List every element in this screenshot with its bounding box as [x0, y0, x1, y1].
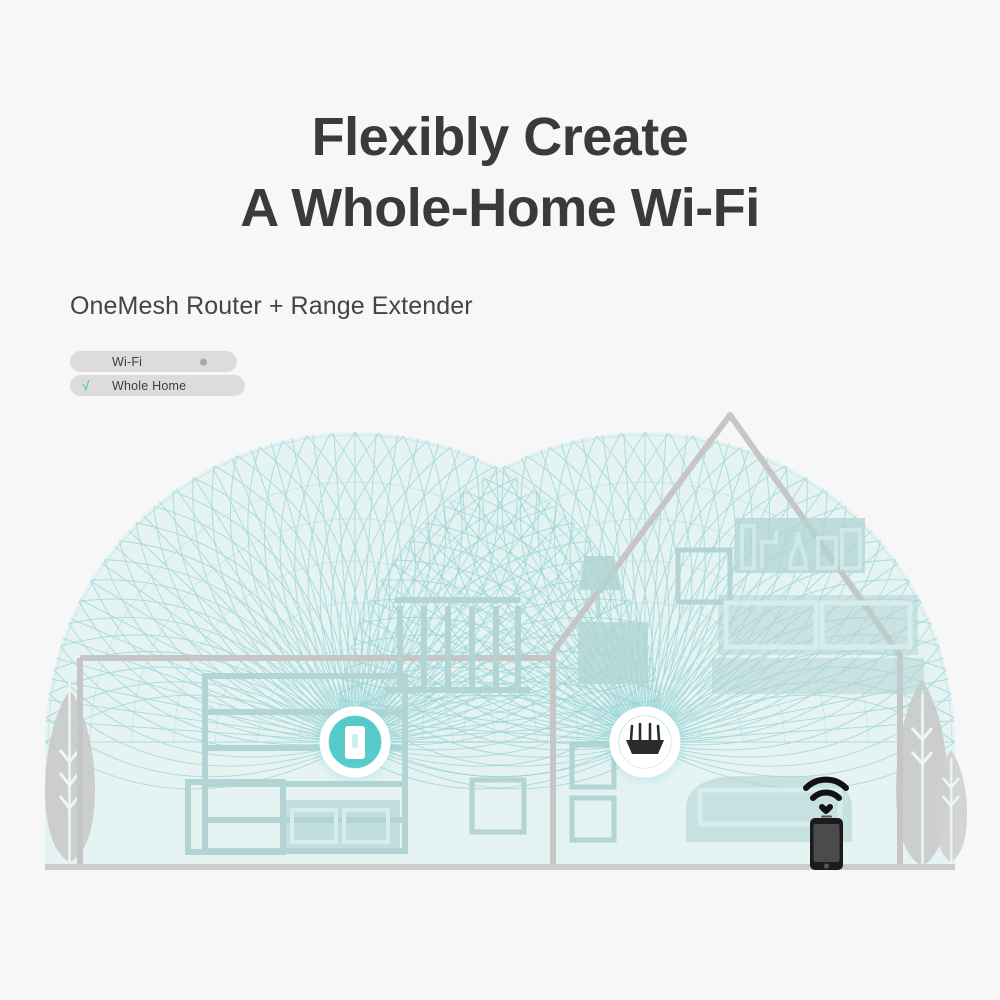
page-title-line-2: A Whole-Home Wi-Fi: [0, 173, 1000, 244]
device-router[interactable]: [600, 697, 690, 787]
interior-panel: [578, 622, 648, 684]
chip-wifi[interactable]: Wi-Fi: [70, 351, 237, 372]
interior-cabinet-upper: [735, 518, 865, 573]
device-range-extender[interactable]: [310, 697, 400, 787]
home-coverage-illustration: [0, 390, 1000, 890]
chip-wifi-label: Wi-Fi: [112, 355, 142, 369]
page-title: Flexibly Create A Whole-Home Wi-Fi: [0, 102, 1000, 244]
interior-table-lower-left: [282, 800, 400, 852]
dot-icon: [200, 358, 207, 365]
page-title-line-1: Flexibly Create: [0, 102, 1000, 173]
interior-sofa-upper: [712, 595, 924, 694]
page-root: Flexibly Create A Whole-Home Wi-Fi OneMe…: [0, 0, 1000, 1000]
illustration-canvas: [0, 390, 1000, 890]
page-subtitle: OneMesh Router + Range Extender: [70, 290, 473, 322]
